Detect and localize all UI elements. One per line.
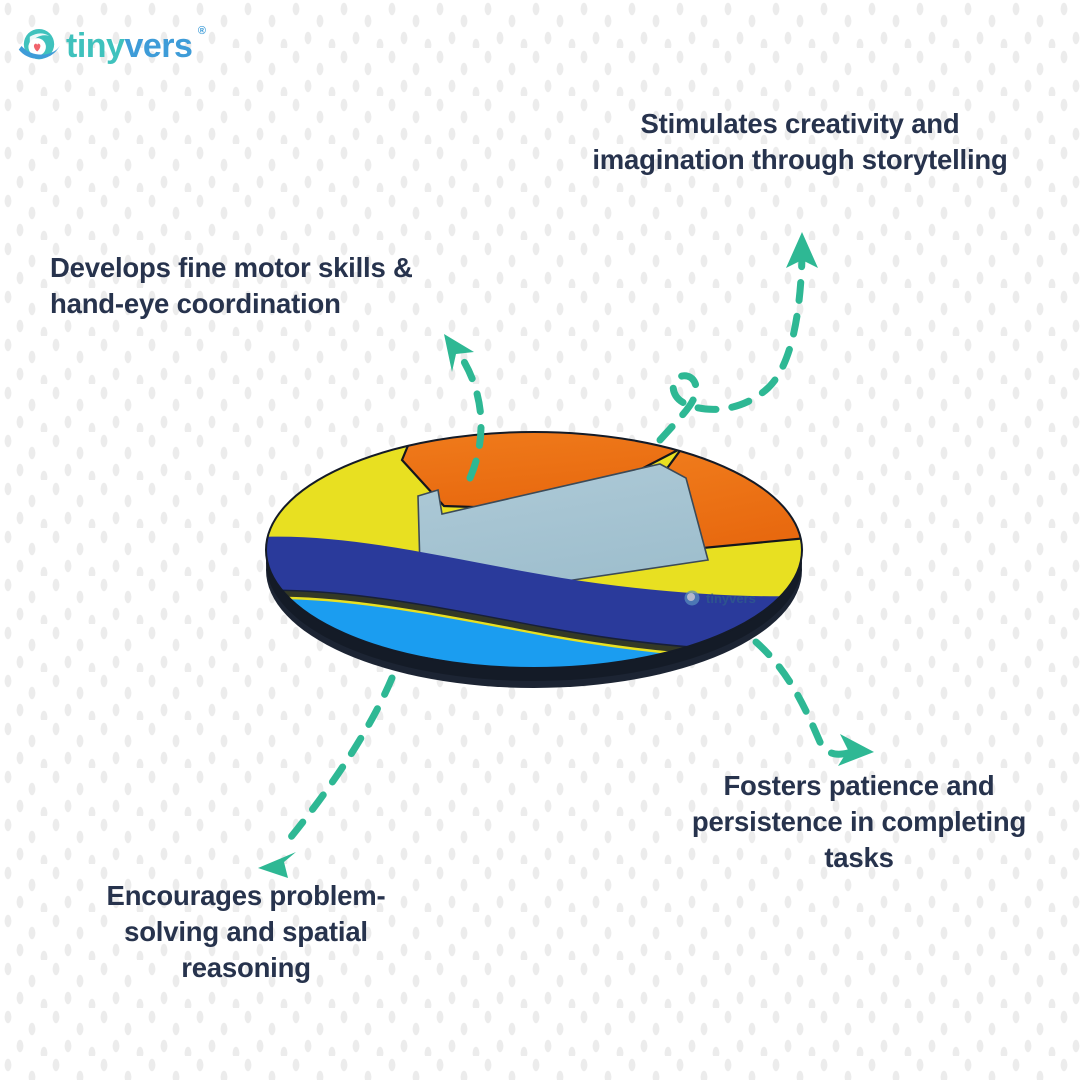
puzzle-watermark-text: tinyvers <box>706 591 756 606</box>
tinyvers-circle-heart-swoosh-icon <box>16 23 62 69</box>
arrowhead-problem-solving <box>258 852 296 878</box>
brand-word-vers: vers <box>124 27 192 65</box>
brand-word-tiny: tiny <box>66 27 124 65</box>
arrowhead-patience <box>838 734 874 766</box>
puzzle-watermark-logo: tinyvers <box>685 591 756 607</box>
callout-problem-solving: Encourages problem-solving and spatial r… <box>60 878 432 985</box>
brand-wordmark: tinyvers® <box>66 29 192 63</box>
callout-motor-skills: Develops fine motor skills & hand-eye co… <box>50 250 470 322</box>
arrowhead-creativity <box>786 232 818 268</box>
callout-creativity: Stimulates creativity and imagination th… <box>590 106 1010 178</box>
registered-trademark-icon: ® <box>198 26 206 37</box>
wooden-boat-puzzle-illustration: tinyvers <box>262 418 822 708</box>
infographic-canvas: tinyvers® <box>0 0 1080 1080</box>
callout-patience: Fosters patience and persistence in comp… <box>678 768 1040 875</box>
arrow-to-creativity <box>660 258 802 440</box>
brand-logo: tinyvers® <box>16 18 266 74</box>
arrowhead-motor-skills <box>444 334 474 372</box>
puzzle-top-surface <box>262 418 822 708</box>
